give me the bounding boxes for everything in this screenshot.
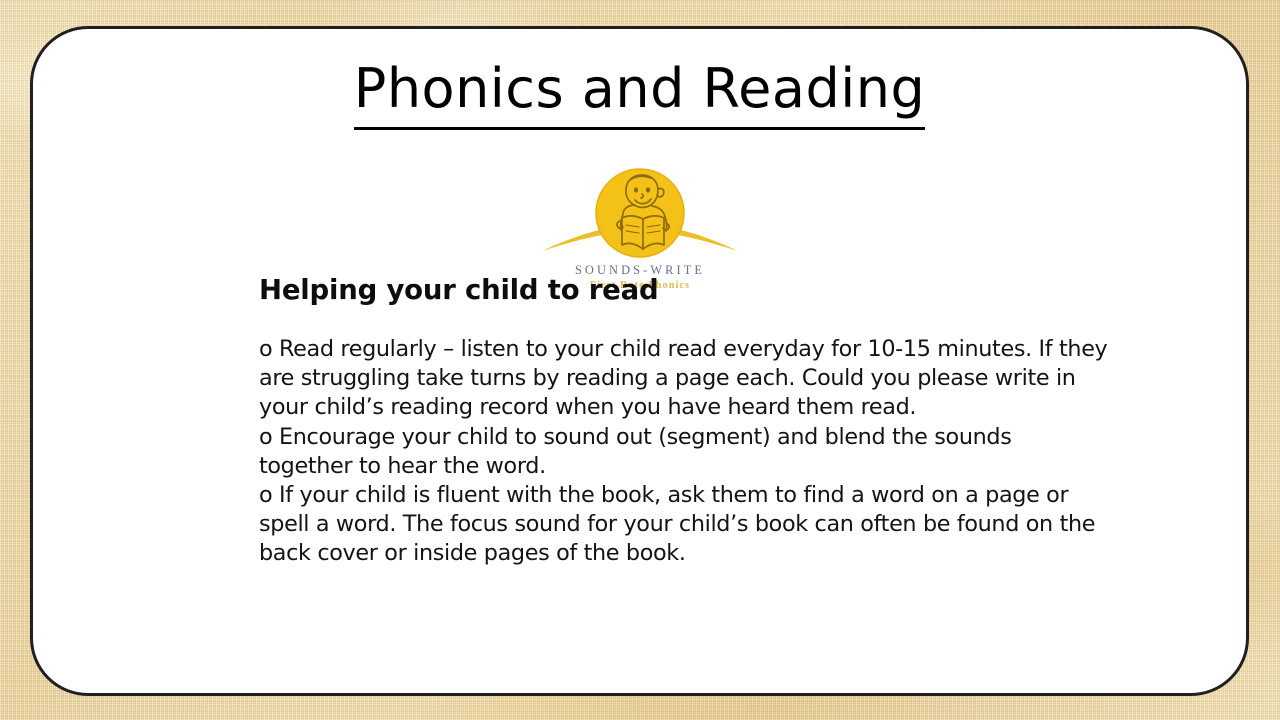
- bullet-item: o Encourage your child to sound out (seg…: [259, 423, 1109, 481]
- bullet-item: o Read regularly – listen to your child …: [259, 335, 1109, 423]
- slide-canvas: Phonics and Reading: [0, 0, 1280, 720]
- slide-content-card: Phonics and Reading: [30, 26, 1249, 696]
- slide-body: Helping your child to read o Read regula…: [259, 274, 1109, 569]
- slide-title-container: Phonics and Reading: [33, 61, 1246, 130]
- body-subheading: Helping your child to read: [259, 274, 1109, 307]
- bullet-item: o If your child is fluent with the book,…: [259, 481, 1109, 569]
- page-title: Phonics and Reading: [354, 61, 926, 130]
